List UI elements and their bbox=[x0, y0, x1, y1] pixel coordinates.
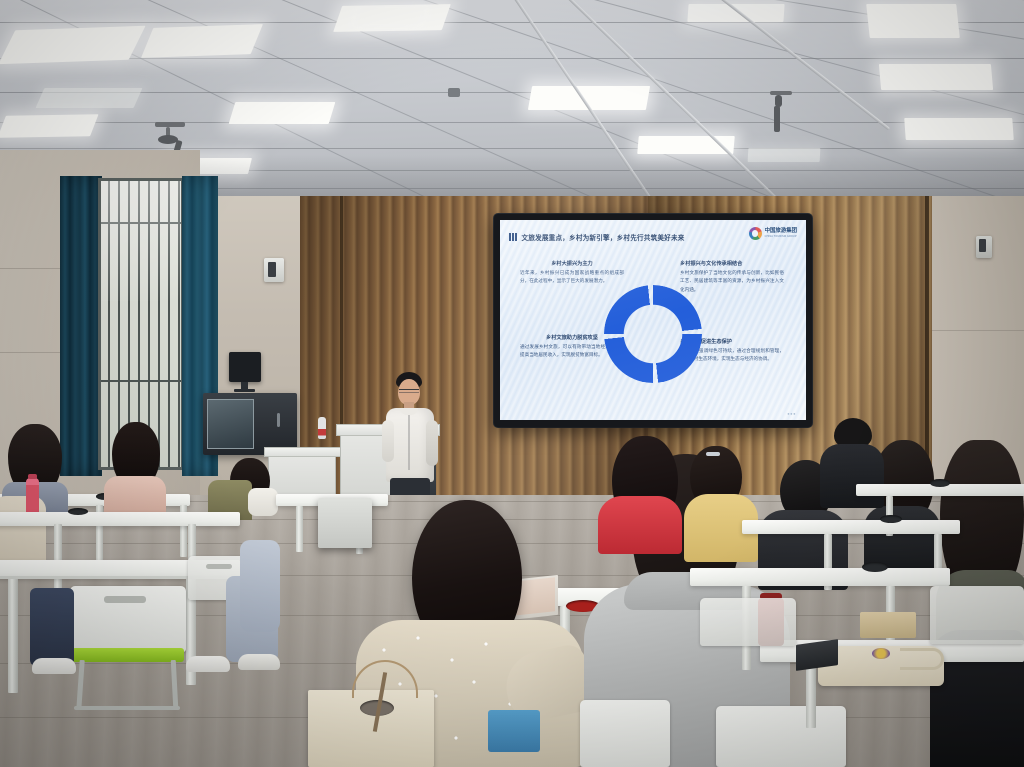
wall-speaker-left bbox=[264, 258, 284, 282]
attendee-shoe bbox=[32, 658, 76, 674]
presentation-screen[interactable]: 文旅发展重点，乡村为新引擎，乡村先行共筑美好未来 中国旅游集团 CHINA TO… bbox=[494, 214, 812, 427]
chair-handle-slot bbox=[104, 596, 146, 603]
tote-bag-emblem-icon bbox=[872, 648, 890, 659]
ceiling-light-panel bbox=[0, 26, 146, 64]
ceiling-sensor bbox=[448, 88, 460, 97]
attendee-long-hair-left-b bbox=[104, 422, 166, 508]
window-bar-horizontal bbox=[101, 222, 181, 224]
table-right-front bbox=[690, 568, 950, 586]
projector-mount bbox=[155, 122, 185, 127]
chair-back-center[interactable] bbox=[580, 700, 670, 767]
chair-back-right-row[interactable] bbox=[700, 598, 796, 646]
cable-grommet bbox=[68, 508, 88, 515]
window-bar-horizontal bbox=[101, 380, 181, 382]
brand-logo: 中国旅游集团 CHINA TOURISM GROUP bbox=[749, 227, 797, 240]
bottle-lid bbox=[28, 474, 37, 479]
chair-seat-green[interactable] bbox=[72, 648, 184, 662]
projector-mount bbox=[770, 91, 792, 95]
water-bottle-on-ledge bbox=[318, 417, 326, 439]
attendee-red-top bbox=[598, 436, 684, 552]
four-segment-ring-diagram bbox=[604, 285, 702, 383]
attendee-yellow-cardigan bbox=[684, 446, 760, 562]
presenter-arm-left bbox=[382, 420, 394, 462]
attendee-olive-vest bbox=[208, 454, 280, 516]
projector-arm bbox=[774, 106, 780, 132]
blue-bin bbox=[488, 710, 540, 752]
ceiling-light-panel bbox=[36, 88, 143, 108]
presenter-glasses-icon bbox=[399, 389, 419, 393]
table-leg bbox=[806, 662, 816, 728]
cable-grommet bbox=[862, 562, 888, 572]
block-heading: 乡村振兴与文化传承相结合 bbox=[680, 260, 784, 267]
table-right-mid bbox=[742, 520, 960, 534]
ceiling-light-panel bbox=[904, 118, 1014, 140]
ceiling-light-panel bbox=[357, 8, 423, 24]
block-body: 近年来，乡村振兴已成为国家战略重点的组成部分，在此过程中，显示了巨大的发展潜力。 bbox=[520, 270, 624, 287]
attendee-shoe bbox=[238, 654, 280, 670]
ceiling-light-panel bbox=[141, 24, 263, 58]
slide-text-block-top-right: 乡村振兴与文化传承相结合 乡村文旅保护了当地文化的传承与创新，比如民俗工艺、民居… bbox=[680, 260, 784, 295]
brand-name-cn: 中国旅游集团 bbox=[765, 229, 797, 234]
attendee-legs bbox=[30, 588, 74, 666]
monitor-base bbox=[234, 389, 255, 392]
attendee-red-shirt bbox=[598, 496, 682, 554]
attendee-sleeve bbox=[248, 488, 278, 516]
slide-body: 乡村大振兴为主力 近年来，乡村振兴已成为国家战略重点的组成部分，在此过程中，显示… bbox=[500, 256, 806, 412]
ceiling-light-panel bbox=[0, 114, 99, 138]
chair-back-far-right[interactable] bbox=[930, 586, 1024, 644]
presenter bbox=[382, 372, 438, 502]
hair-clip-icon bbox=[706, 452, 720, 456]
title-marker-icon bbox=[509, 233, 517, 241]
tote-bag-handle bbox=[900, 648, 944, 670]
desktop-monitor bbox=[229, 352, 261, 382]
presenter-shirt-placket bbox=[408, 412, 410, 470]
block-heading: 乡村大振兴为主力 bbox=[520, 260, 624, 267]
chair-base-rail bbox=[74, 706, 180, 710]
ceiling-light-panel bbox=[687, 4, 784, 22]
attendee-dark-suit-back bbox=[820, 418, 886, 510]
cabinet-glass-door[interactable] bbox=[207, 399, 254, 449]
attendee-hair bbox=[940, 440, 1024, 590]
slide-content: 文旅发展重点，乡村为新引擎，乡村先行共筑美好未来 中国旅游集团 CHINA TO… bbox=[500, 220, 806, 420]
attendee-top bbox=[0, 496, 46, 568]
china-tourism-group-logo-icon bbox=[749, 227, 762, 240]
ceiling-light-panel bbox=[866, 4, 960, 38]
attendee-jeans-right bbox=[240, 540, 280, 632]
attendee-suit bbox=[820, 444, 884, 508]
slide-title: 文旅发展重点，乡村为新引擎，乡村先行共筑美好未来 bbox=[522, 232, 685, 242]
wall-seam bbox=[930, 330, 1024, 331]
table-leg bbox=[296, 506, 303, 552]
chair-handle-slot bbox=[206, 564, 232, 569]
brand-name-en: CHINA TOURISM GROUP bbox=[765, 236, 797, 238]
attendee-top bbox=[104, 476, 166, 512]
screen-watermark: ●●● bbox=[787, 411, 796, 416]
ceiling-light-panel bbox=[879, 64, 993, 90]
cabinet-handle[interactable] bbox=[277, 413, 280, 427]
slide-text-block-top-left: 乡村大振兴为主力 近年来，乡村振兴已成为国家战略重点的组成部分，在此过程中，显示… bbox=[520, 260, 624, 287]
attendee-hair bbox=[112, 422, 160, 484]
conference-room-photo: 文旅发展重点，乡村为新引擎，乡村先行共筑美好未来 中国旅游集团 CHINA TO… bbox=[0, 0, 1024, 767]
cable-grommet bbox=[930, 479, 950, 487]
block-body: 乡村文旅保护了当地文化的传承与创新，比如民俗工艺、民居建筑等丰富的资源，为乡村振… bbox=[680, 270, 784, 295]
table-left-mid bbox=[0, 512, 240, 526]
presenter-arm-right bbox=[426, 420, 438, 466]
table-leg bbox=[8, 577, 18, 693]
attendee-shoe bbox=[186, 656, 230, 672]
chair-back-right[interactable] bbox=[716, 706, 846, 767]
wall-speaker-right bbox=[976, 236, 992, 258]
ceiling-light-panel bbox=[229, 102, 336, 124]
cardboard-box bbox=[860, 612, 916, 638]
pink-water-bottle bbox=[26, 478, 39, 516]
attendee-jacket bbox=[864, 506, 940, 568]
cable-grommet bbox=[880, 515, 902, 523]
